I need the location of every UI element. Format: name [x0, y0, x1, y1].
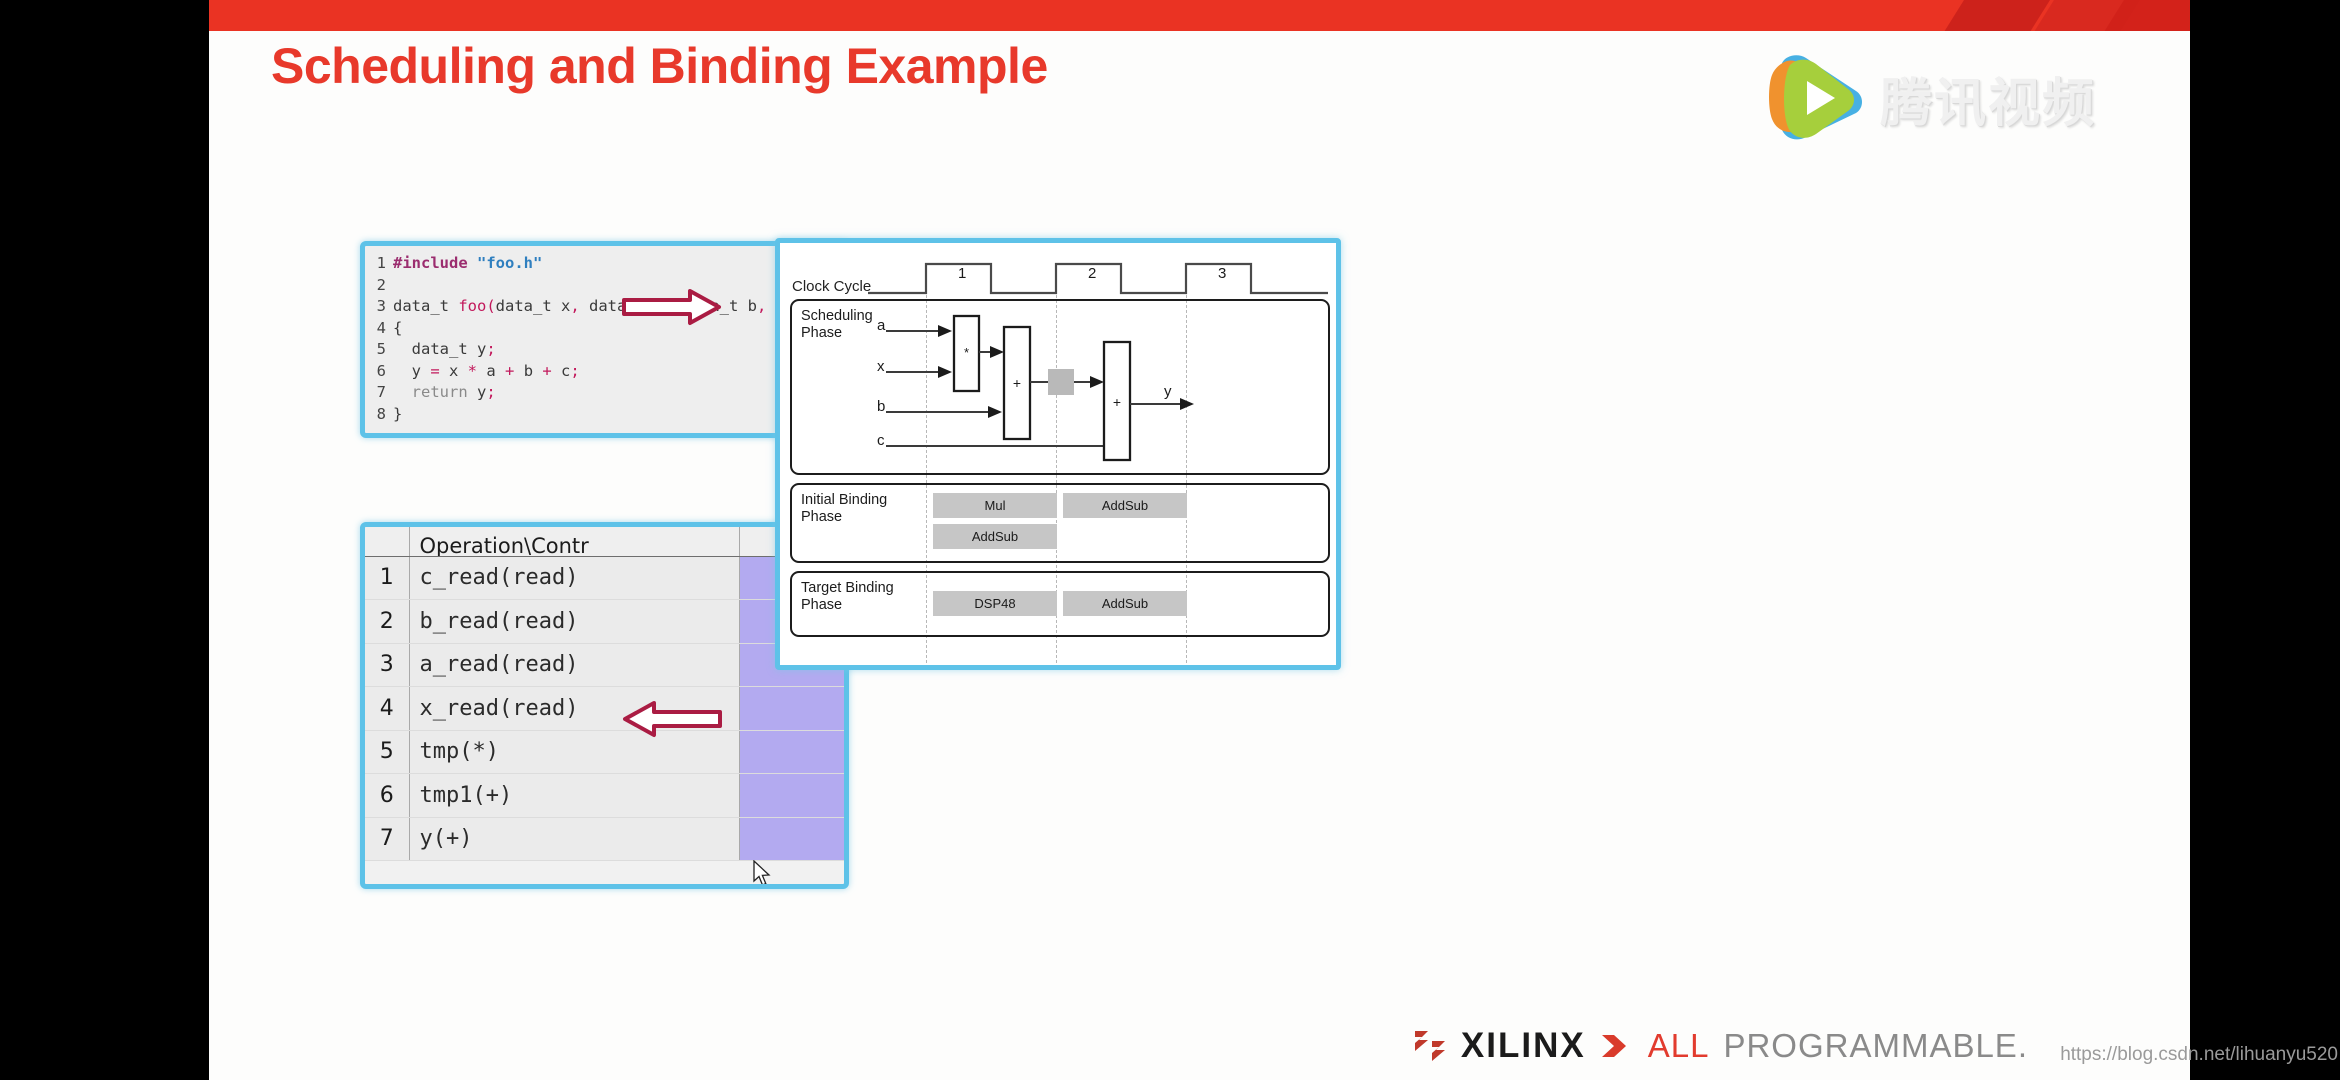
top-red-bar: [209, 0, 2190, 31]
code-line: 6 y = x * a + b + c;: [369, 361, 840, 383]
xilinx-logo: XILINX ALL PROGRAMMABLE.: [1413, 1026, 2028, 1066]
binding-unit-addsub-c2[interactable]: AddSub: [1063, 493, 1187, 518]
table-row[interactable]: 6 tmp1(+): [365, 774, 845, 818]
table-row[interactable]: 1 c_read(read): [365, 556, 845, 600]
arrow-left-icon: [622, 700, 722, 738]
operation-cell[interactable]: tmp1(+): [409, 774, 739, 818]
input-label-b: b: [877, 398, 885, 415]
c0-cell[interactable]: [739, 774, 845, 818]
xilinx-mark-icon: [1413, 1029, 1447, 1063]
input-label-c: c: [877, 432, 885, 449]
input-label-x: x: [877, 358, 885, 375]
binding-unit-addsub-target[interactable]: AddSub: [1063, 591, 1187, 616]
row-index: 5: [365, 730, 409, 774]
code-line: 2: [369, 275, 840, 297]
row-index: 2: [365, 600, 409, 644]
page-title: Scheduling and Binding Example: [271, 37, 1048, 95]
row-index: 3: [365, 643, 409, 687]
operation-cell[interactable]: y(+): [409, 817, 739, 861]
cycle-number-3: 3: [1218, 265, 1226, 282]
input-label-a: a: [877, 317, 885, 334]
row-index: 7: [365, 817, 409, 861]
table-row[interactable]: 7 y(+): [365, 817, 845, 861]
xilinx-chevron-icon: [1600, 1033, 1634, 1059]
c0-cell[interactable]: [739, 730, 845, 774]
table-row[interactable]: 4 x_read(read): [365, 687, 845, 731]
code-line: 1#include "foo.h": [369, 253, 840, 275]
operation-cell[interactable]: b_read(read): [409, 600, 739, 644]
col-header-index[interactable]: [365, 527, 409, 556]
target-binding-phase-label: Target Binding Phase: [801, 580, 894, 614]
clock-cycle-label: Clock Cycle: [792, 278, 871, 295]
initial-binding-phase-label: Initial Binding Phase: [801, 492, 887, 526]
code-line: 4{: [369, 318, 840, 340]
target-binding-phase-box: Target Binding Phase: [790, 571, 1330, 637]
all-label: ALL: [1648, 1027, 1710, 1065]
binding-unit-mul[interactable]: Mul: [933, 493, 1057, 518]
c0-cell[interactable]: [739, 817, 845, 861]
code-line: 3data_t foo(data_t x, data_t a, data_t b…: [369, 296, 840, 318]
code-line: 5 data_t y;: [369, 339, 840, 361]
table-row[interactable]: 2 b_read(read): [365, 600, 845, 644]
svg-text:*: *: [964, 345, 969, 360]
code-line: 8}: [369, 404, 840, 426]
row-index: 1: [365, 556, 409, 600]
slide-canvas: Scheduling and Binding Example 腾讯视频 1#in…: [209, 0, 2190, 1080]
clock-waveform: [868, 257, 1328, 301]
tencent-video-label: 腾讯视频: [1880, 61, 2096, 136]
operation-cell[interactable]: a_read(read): [409, 643, 739, 687]
binding-unit-addsub-c1[interactable]: AddSub: [933, 524, 1057, 549]
binding-unit-dsp48[interactable]: DSP48: [933, 591, 1057, 616]
svg-text:+: +: [1113, 394, 1121, 410]
row-index: 6: [365, 774, 409, 818]
csdn-watermark: https://blog.csdn.net/lihuanyu520: [2060, 1044, 2338, 1066]
dataflow-graph: * + +: [790, 299, 1330, 475]
initial-binding-phase-box: Initial Binding Phase: [790, 483, 1330, 563]
table-header-row: Operation\Contr C0: [365, 527, 845, 556]
table-row[interactable]: 5 tmp(*): [365, 730, 845, 774]
xilinx-wordmark: XILINX: [1461, 1026, 1586, 1066]
tencent-video-logo: 腾讯视频: [1760, 45, 2090, 145]
arrow-right-icon: [622, 288, 722, 326]
cycle-number-2: 2: [1088, 265, 1096, 282]
footer-bar: XILINX ALL PROGRAMMABLE.: [209, 1020, 2190, 1068]
row-index: 4: [365, 687, 409, 731]
mouse-cursor-icon: [753, 860, 771, 887]
c0-cell[interactable]: [739, 687, 845, 731]
table-row[interactable]: 3 a_read(read): [365, 643, 845, 687]
play-triangle-icon: [1760, 51, 1868, 143]
operations-table: Operation\Contr C0 1 c_read(read) 2 b_re…: [365, 527, 846, 861]
svg-text:+: +: [1013, 375, 1021, 391]
scheduling-binding-diagram: Clock Cycle 1 2 3 Scheduling Phase: [775, 238, 1341, 670]
operations-table-body: 1 c_read(read) 2 b_read(read) 3 a_read(r…: [365, 556, 845, 861]
col-header-operation[interactable]: Operation\Contr: [409, 527, 739, 556]
output-label-y: y: [1164, 383, 1172, 400]
code-line: 7 return y;: [369, 382, 840, 404]
operation-cell[interactable]: c_read(read): [409, 556, 739, 600]
screenshot-root: Scheduling and Binding Example 腾讯视频 1#in…: [0, 0, 2340, 1080]
cycle-number-1: 1: [958, 265, 966, 282]
programmable-label: PROGRAMMABLE.: [1723, 1027, 2028, 1065]
